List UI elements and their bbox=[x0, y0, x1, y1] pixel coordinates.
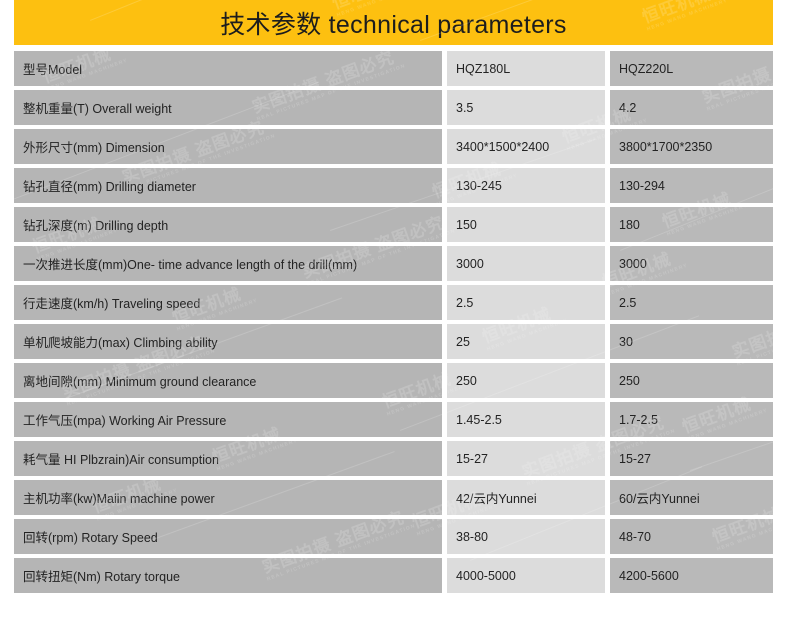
parameter-label-cell: 工作气压(mpa) Working Air Pressure bbox=[14, 402, 442, 437]
parameter-label-cell: 外形尺寸(mm) Dimension bbox=[14, 129, 442, 164]
table-row: 离地间隙(mm) Minimum ground clearance250250 bbox=[14, 363, 773, 398]
table-row: 型号ModelHQZ180LHQZ220L bbox=[14, 51, 773, 86]
parameter-label-cell: 回转(rpm) Rotary Speed bbox=[14, 519, 442, 554]
hqz220l-value-cell: 30 bbox=[610, 324, 773, 359]
parameter-label-cell: 回转扭矩(Nm) Rotary torque bbox=[14, 558, 442, 593]
table-row: 外形尺寸(mm) Dimension3400*1500*24003800*170… bbox=[14, 129, 773, 164]
hqz220l-value-cell: 130-294 bbox=[610, 168, 773, 203]
hqz220l-value-cell: 4.2 bbox=[610, 90, 773, 125]
hqz220l-value-cell: 15-27 bbox=[610, 441, 773, 476]
technical-parameters-sheet: 恒旺机械HENG WANG MACHINERY恒旺机械HENG WANG MAC… bbox=[0, 0, 790, 640]
hqz220l-value-cell: 3800*1700*2350 bbox=[610, 129, 773, 164]
parameter-label-cell: 整机重量(T) Overall weight bbox=[14, 90, 442, 125]
hqz220l-value-cell: 180 bbox=[610, 207, 773, 242]
parameter-label-cell: 行走速度(km/h) Traveling speed bbox=[14, 285, 442, 320]
table-row: 回转(rpm) Rotary Speed38-8048-70 bbox=[14, 519, 773, 554]
parameter-label-cell: 一次推进长度(mm)One- time advance length of th… bbox=[14, 246, 442, 281]
parameter-label-cell: 钻孔直径(mm) Drilling diameter bbox=[14, 168, 442, 203]
hqz220l-value-cell: 4200-5600 bbox=[610, 558, 773, 593]
parameter-label-cell: 型号Model bbox=[14, 51, 442, 86]
parameter-label-cell: 离地间隙(mm) Minimum ground clearance bbox=[14, 363, 442, 398]
hqz180l-value-cell: 42/云内Yunnei bbox=[447, 480, 605, 515]
table-row: 工作气压(mpa) Working Air Pressure1.45-2.51.… bbox=[14, 402, 773, 437]
hqz180l-value-cell: 2.5 bbox=[447, 285, 605, 320]
hqz220l-value-cell: 1.7-2.5 bbox=[610, 402, 773, 437]
hqz180l-value-cell: 4000-5000 bbox=[447, 558, 605, 593]
hqz180l-value-cell: HQZ180L bbox=[447, 51, 605, 86]
page-title: 技术参数 technical parameters bbox=[14, 5, 773, 41]
hqz180l-value-cell: 3000 bbox=[447, 246, 605, 281]
hqz180l-value-cell: 130-245 bbox=[447, 168, 605, 203]
table-row: 钻孔深度(m) Drilling depth150180 bbox=[14, 207, 773, 242]
hqz220l-value-cell: HQZ220L bbox=[610, 51, 773, 86]
hqz220l-value-cell: 3000 bbox=[610, 246, 773, 281]
hqz180l-value-cell: 250 bbox=[447, 363, 605, 398]
hqz180l-value-cell: 3.5 bbox=[447, 90, 605, 125]
parameter-label-cell: 钻孔深度(m) Drilling depth bbox=[14, 207, 442, 242]
parameter-label-cell: 主机功率(kw)Maiin machine power bbox=[14, 480, 442, 515]
hqz220l-value-cell: 60/云内Yunnei bbox=[610, 480, 773, 515]
parameter-label-cell: 耗气量 HI Plbzrain)Air consumption bbox=[14, 441, 442, 476]
table-row: 耗气量 HI Plbzrain)Air consumption15-2715-2… bbox=[14, 441, 773, 476]
banner: 技术参数 technical parameters bbox=[14, 0, 773, 45]
hqz180l-value-cell: 1.45-2.5 bbox=[447, 402, 605, 437]
hqz220l-value-cell: 2.5 bbox=[610, 285, 773, 320]
hqz220l-value-cell: 48-70 bbox=[610, 519, 773, 554]
hqz180l-value-cell: 150 bbox=[447, 207, 605, 242]
table-row: 行走速度(km/h) Traveling speed2.52.5 bbox=[14, 285, 773, 320]
hqz180l-value-cell: 15-27 bbox=[447, 441, 605, 476]
table-row: 一次推进长度(mm)One- time advance length of th… bbox=[14, 246, 773, 281]
table-row: 主机功率(kw)Maiin machine power42/云内Yunnei60… bbox=[14, 480, 773, 515]
hqz180l-value-cell: 3400*1500*2400 bbox=[447, 129, 605, 164]
table-row: 回转扭矩(Nm) Rotary torque4000-50004200-5600 bbox=[14, 558, 773, 593]
table-row: 整机重量(T) Overall weight3.54.2 bbox=[14, 90, 773, 125]
parameter-label-cell: 单机爬坡能力(max) Climbing ability bbox=[14, 324, 442, 359]
table-row: 钻孔直径(mm) Drilling diameter130-245130-294 bbox=[14, 168, 773, 203]
hqz180l-value-cell: 38-80 bbox=[447, 519, 605, 554]
spec-table: 型号ModelHQZ180LHQZ220L整机重量(T) Overall wei… bbox=[14, 51, 773, 597]
hqz220l-value-cell: 250 bbox=[610, 363, 773, 398]
table-row: 单机爬坡能力(max) Climbing ability2530 bbox=[14, 324, 773, 359]
hqz180l-value-cell: 25 bbox=[447, 324, 605, 359]
